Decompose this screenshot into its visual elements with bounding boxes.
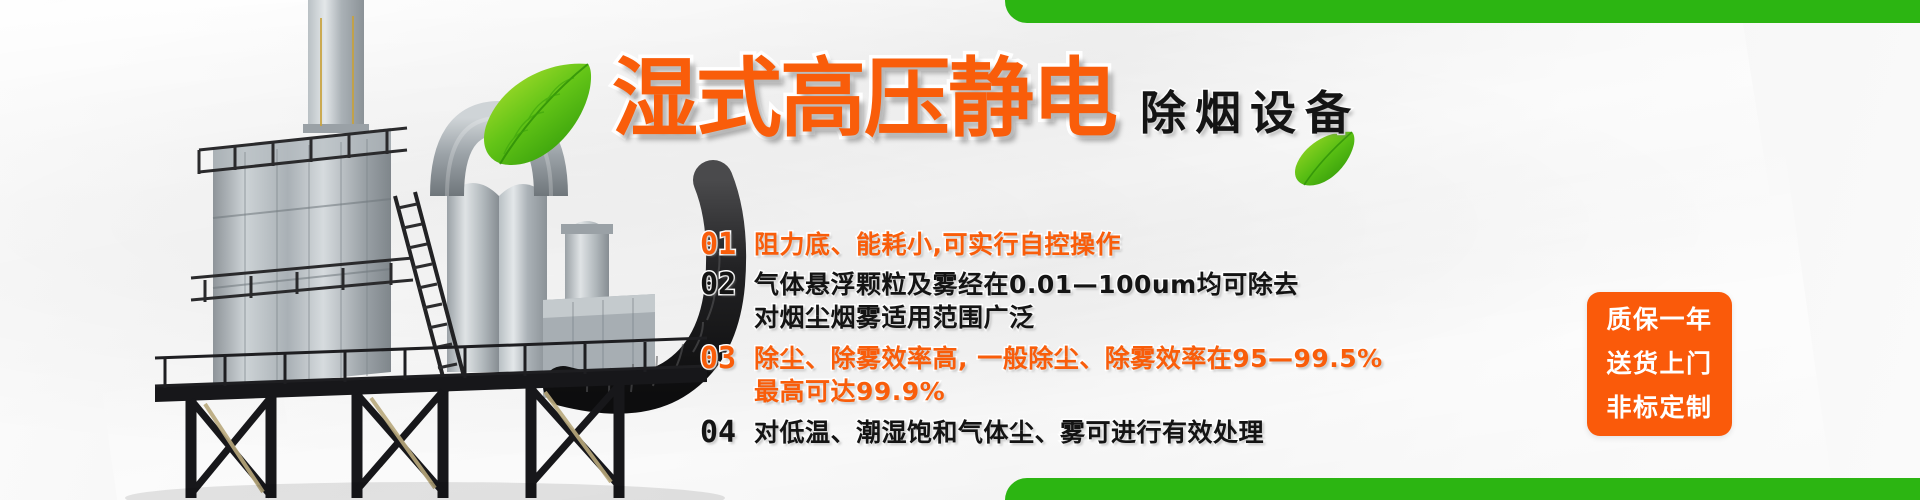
feature-number: 01 bbox=[700, 228, 754, 262]
feature-line: 阻力底、能耗小,可实行自控操作 bbox=[754, 230, 1121, 259]
feature-text: 气体悬浮颗粒及雾经在0.01—100um均可除去 对烟尘烟雾适用范围广泛 bbox=[754, 268, 1299, 334]
headline-sub: 除烟设备 bbox=[1140, 90, 1360, 136]
feature-number: 03 bbox=[700, 342, 754, 376]
feature-line: 除尘、除雾效率高, 一般除尘、除雾效率在95—99.5% bbox=[754, 344, 1383, 373]
feature-number: 04 bbox=[700, 416, 754, 450]
list-item: 03 除尘、除雾效率高, 一般除尘、除雾效率在95—99.5% 最高可达99.9… bbox=[700, 342, 1600, 408]
headline-main: 湿式高压静电 bbox=[612, 56, 1116, 142]
feature-line: 对低温、潮湿饱和气体尘、雾可进行有效处理 bbox=[754, 418, 1264, 447]
list-item: 02 气体悬浮颗粒及雾经在0.01—100um均可除去 对烟尘烟雾适用范围广泛 bbox=[700, 268, 1600, 334]
status-badge: 质保一年 送货上门 非标定制 bbox=[1587, 292, 1732, 436]
feature-line: 最高可达99.9% bbox=[754, 375, 1383, 408]
badge-line: 质保一年 bbox=[1606, 298, 1712, 342]
feature-text: 阻力底、能耗小,可实行自控操作 bbox=[754, 228, 1121, 261]
green-bar-bottom bbox=[1005, 478, 1920, 500]
green-bar-top bbox=[1005, 0, 1920, 23]
badge-line: 非标定制 bbox=[1606, 386, 1712, 430]
feature-line: 气体悬浮颗粒及雾经在0.01—100um均可除去 bbox=[754, 270, 1299, 299]
badge-line: 送货上门 bbox=[1606, 342, 1712, 386]
leaf-icon bbox=[478, 58, 598, 170]
feature-line: 对烟尘烟雾适用范围广泛 bbox=[754, 301, 1299, 334]
promo-banner: 湿式高压静电 除烟设备 01 阻力底、能耗小,可实行自控操作 02 气体悬浮颗粒… bbox=[0, 0, 1920, 500]
list-item: 01 阻力底、能耗小,可实行自控操作 bbox=[700, 228, 1600, 262]
feature-text: 对低温、潮湿饱和气体尘、雾可进行有效处理 bbox=[754, 416, 1264, 449]
feature-text: 除尘、除雾效率高, 一般除尘、除雾效率在95—99.5% 最高可达99.9% bbox=[754, 342, 1383, 408]
feature-list: 01 阻力底、能耗小,可实行自控操作 02 气体悬浮颗粒及雾经在0.01—100… bbox=[700, 228, 1600, 454]
page-title: 湿式高压静电 除烟设备 bbox=[612, 56, 1360, 142]
list-item: 04 对低温、潮湿饱和气体尘、雾可进行有效处理 bbox=[700, 416, 1600, 450]
feature-number: 02 bbox=[700, 268, 754, 302]
